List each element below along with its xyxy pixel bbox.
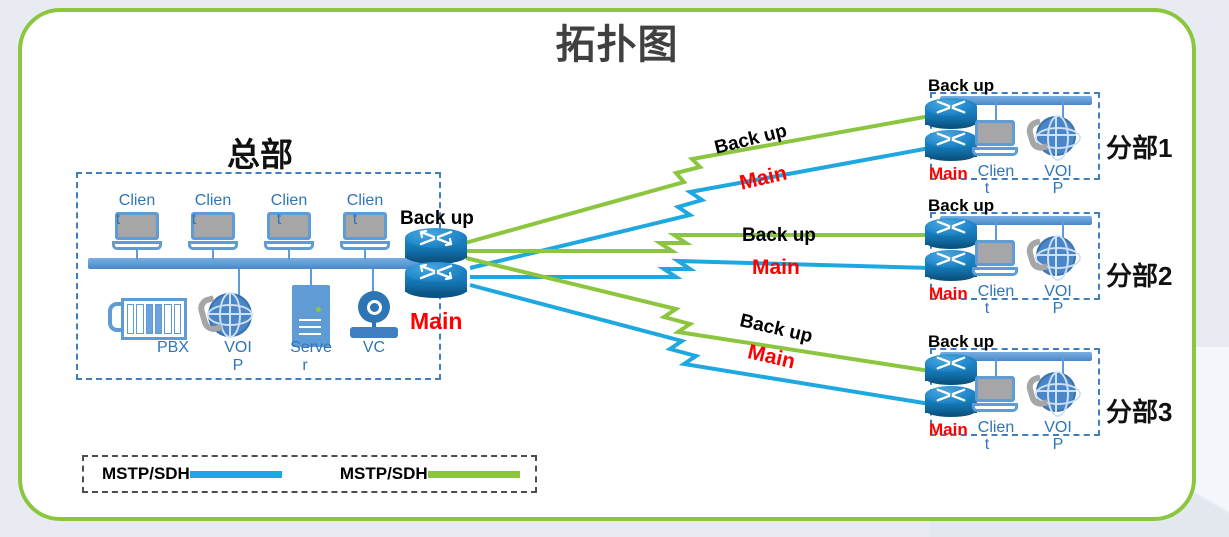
hq-client-1-label-line1: Clien bbox=[117, 192, 157, 209]
legend-item-backup: MSTP/SDH bbox=[340, 464, 520, 484]
router-icon bbox=[405, 228, 467, 262]
branch1-voip[interactable] bbox=[1028, 116, 1076, 164]
legend-swatch-main bbox=[190, 471, 282, 478]
hq-router-backup[interactable] bbox=[405, 228, 467, 262]
legend: MSTP/SDH MSTP/SDH bbox=[82, 455, 537, 493]
branch1-router-backup[interactable] bbox=[925, 98, 977, 128]
branch3-router-backup[interactable] bbox=[925, 354, 977, 384]
globe-phone-icon bbox=[1028, 116, 1076, 164]
hq-server[interactable] bbox=[292, 285, 330, 347]
router-icon bbox=[925, 98, 977, 128]
hq-vc-link bbox=[372, 269, 374, 293]
globe-phone-icon bbox=[200, 293, 252, 345]
branch2-voip-label-line1: VOI bbox=[1030, 283, 1086, 300]
link-label-branch3-main: Main bbox=[745, 340, 797, 374]
hq-client-1-link bbox=[136, 250, 138, 260]
branch2-client[interactable] bbox=[972, 240, 1018, 278]
legend-label-main: MSTP/SDH bbox=[102, 464, 190, 484]
branch1-client[interactable] bbox=[972, 120, 1018, 158]
branch2-client-label-line1: Clien bbox=[968, 283, 1024, 300]
branch1-client-label-line2: t bbox=[959, 180, 1015, 197]
branch2-name: 分部2 bbox=[1106, 256, 1172, 293]
branch2-voip[interactable] bbox=[1028, 236, 1076, 284]
hq-pbx[interactable] bbox=[108, 296, 194, 342]
branch1-voip-label-line2: P bbox=[1030, 180, 1086, 197]
laptop-icon bbox=[972, 376, 1018, 414]
legend-item-main: MSTP/SDH bbox=[102, 464, 282, 484]
hq-vc[interactable] bbox=[348, 291, 400, 339]
branch2-router-backup-tag: Back up bbox=[928, 196, 994, 216]
link-label-branch2-backup: Back up bbox=[742, 225, 816, 247]
hq-pbx-label: PBX bbox=[145, 339, 201, 356]
branch2-client-label-line2: t bbox=[959, 300, 1015, 317]
branch2-voip-label-line2: P bbox=[1030, 300, 1086, 317]
router-icon bbox=[405, 262, 467, 296]
branch3-voip-label-line2: P bbox=[1030, 436, 1086, 453]
server-icon bbox=[292, 285, 330, 347]
hq-server-label-line2: r bbox=[277, 357, 333, 374]
hq-voip-label-line2: P bbox=[210, 357, 266, 374]
hq-client-4-label-line2: t bbox=[340, 211, 370, 228]
page-title: 拓扑图 bbox=[502, 12, 732, 70]
hq-client-3-label-line1: Clien bbox=[269, 192, 309, 209]
hq-server-label-line1: Serve bbox=[283, 339, 339, 356]
router-icon bbox=[925, 354, 977, 384]
hq-client-4-label-line1: Clien bbox=[345, 192, 385, 209]
branch2-client-link bbox=[995, 222, 997, 242]
branch3-client-label-line2: t bbox=[959, 436, 1015, 453]
branch3-router-main[interactable] bbox=[925, 386, 977, 416]
branch3-client-link bbox=[995, 358, 997, 378]
hq-bus-bar bbox=[88, 258, 433, 269]
hq-client-2-link bbox=[212, 250, 214, 260]
hq-client-3-label-line2: t bbox=[264, 211, 294, 228]
router-icon bbox=[925, 250, 977, 280]
hq-client-4-link bbox=[364, 250, 366, 260]
link-label-branch1-main: Main bbox=[737, 162, 789, 196]
link-label-branch2-main: Main bbox=[752, 256, 800, 280]
globe-phone-icon bbox=[1028, 236, 1076, 284]
branch3-voip-label-line1: VOI bbox=[1030, 419, 1086, 436]
router-icon bbox=[925, 130, 977, 160]
globe-phone-icon bbox=[1028, 372, 1076, 420]
branch3-name: 分部3 bbox=[1106, 392, 1172, 429]
branch1-client-link bbox=[995, 102, 997, 122]
branch1-router-backup-tag: Back up bbox=[928, 76, 994, 96]
hq-client-1-label-line2: t bbox=[103, 211, 133, 228]
hq-voip[interactable] bbox=[200, 293, 252, 345]
branch3-router-backup-tag: Back up bbox=[928, 332, 994, 352]
hq-router-main-tag: Main bbox=[410, 308, 462, 335]
hq-server-link bbox=[310, 269, 312, 286]
hq-router-main[interactable] bbox=[405, 262, 467, 296]
camera-icon bbox=[348, 291, 400, 339]
laptop-icon bbox=[972, 120, 1018, 158]
link-label-branch1-backup: Back up bbox=[712, 120, 789, 159]
branch1-router-main[interactable] bbox=[925, 130, 977, 160]
branch2-router-main[interactable] bbox=[925, 250, 977, 280]
legend-swatch-backup bbox=[428, 471, 520, 478]
hq-title: 总部 bbox=[185, 128, 335, 176]
branch1-client-label-line1: Clien bbox=[968, 163, 1024, 180]
router-icon bbox=[925, 386, 977, 416]
branch2-router-backup[interactable] bbox=[925, 218, 977, 248]
pbx-icon bbox=[108, 296, 194, 342]
hq-client-3-link bbox=[288, 250, 290, 260]
hq-client-2-label-line2: t bbox=[179, 211, 209, 228]
hq-voip-label-line1: VOI bbox=[210, 339, 266, 356]
branch3-client-label-line1: Clien bbox=[968, 419, 1024, 436]
branch3-voip[interactable] bbox=[1028, 372, 1076, 420]
branch1-voip-label-line1: VOI bbox=[1030, 163, 1086, 180]
legend-label-backup: MSTP/SDH bbox=[340, 464, 428, 484]
hq-vc-label: VC bbox=[346, 339, 402, 356]
branch3-client[interactable] bbox=[972, 376, 1018, 414]
branch1-name: 分部1 bbox=[1106, 128, 1172, 165]
router-icon bbox=[925, 218, 977, 248]
hq-client-2-label-line1: Clien bbox=[193, 192, 233, 209]
laptop-icon bbox=[972, 240, 1018, 278]
hq-router-backup-tag: Back up bbox=[400, 208, 474, 230]
